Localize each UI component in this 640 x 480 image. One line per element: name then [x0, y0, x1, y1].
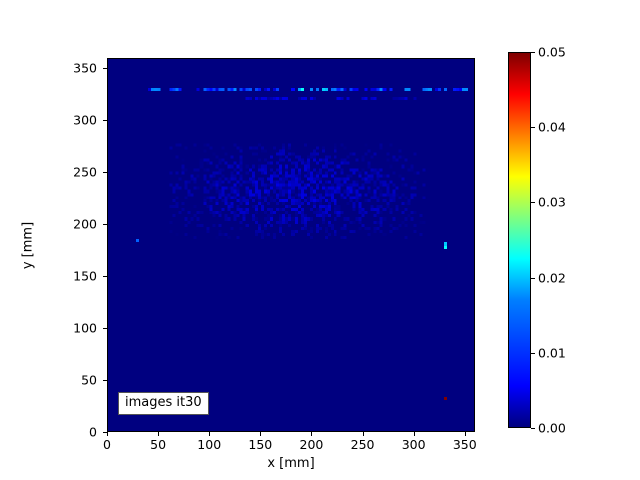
colorbar-tick-mark: [531, 52, 535, 53]
x-tick-mark: [260, 432, 261, 436]
x-tick-label: 250: [351, 437, 375, 452]
x-tick-mark: [107, 432, 108, 436]
y-tick-label: 100: [31, 321, 97, 336]
colorbar[interactable]: [508, 52, 531, 428]
figure-canvas: images it30 050100150200250300350 x [mm]…: [0, 0, 640, 480]
colorbar-tick-mark: [531, 428, 535, 429]
x-tick-label: 0: [103, 437, 111, 452]
colorbar-tick-label: 0.04: [538, 120, 566, 135]
colorbar-tick-label: 0.05: [538, 45, 566, 60]
x-tick-mark: [363, 432, 364, 436]
x-tick-label: 300: [402, 437, 426, 452]
colorbar-tick-label: 0.00: [538, 421, 566, 436]
colorbar-tick-label: 0.03: [538, 195, 566, 210]
x-tick-label: 100: [197, 437, 221, 452]
y-tick-label: 250: [31, 165, 97, 180]
y-tick-mark: [103, 276, 107, 277]
y-tick-label: 200: [31, 217, 97, 232]
x-tick-label: 200: [300, 437, 324, 452]
x-tick-mark: [158, 432, 159, 436]
y-tick-label: 150: [31, 269, 97, 284]
x-tick-label: 50: [150, 437, 166, 452]
x-tick-label: 150: [248, 437, 272, 452]
y-tick-label: 350: [31, 61, 97, 76]
x-tick-mark: [414, 432, 415, 436]
colorbar-tick-mark: [531, 278, 535, 279]
x-axis-label: x [mm]: [107, 456, 475, 471]
heatmap-axes[interactable]: [107, 58, 475, 432]
y-tick-mark: [103, 432, 107, 433]
y-tick-mark: [103, 120, 107, 121]
y-tick-mark: [103, 224, 107, 225]
x-tick-mark: [209, 432, 210, 436]
annotation-label: images it30: [118, 392, 209, 415]
colorbar-tick-label: 0.01: [538, 345, 566, 360]
y-axis-label: y [mm]: [21, 166, 36, 326]
x-tick-mark: [311, 432, 312, 436]
y-tick-label: 300: [31, 113, 97, 128]
y-tick-mark: [103, 380, 107, 381]
x-tick-label: 350: [453, 437, 477, 452]
colorbar-tick-mark: [531, 353, 535, 354]
y-tick-label: 50: [31, 373, 97, 388]
x-tick-mark: [465, 432, 466, 436]
colorbar-tick-mark: [531, 202, 535, 203]
y-tick-mark: [103, 172, 107, 173]
heatmap-image: [108, 59, 474, 431]
y-tick-label: 0: [31, 425, 97, 440]
y-tick-mark: [103, 68, 107, 69]
colorbar-tick-mark: [531, 127, 535, 128]
colorbar-tick-label: 0.02: [538, 270, 566, 285]
y-tick-mark: [103, 328, 107, 329]
